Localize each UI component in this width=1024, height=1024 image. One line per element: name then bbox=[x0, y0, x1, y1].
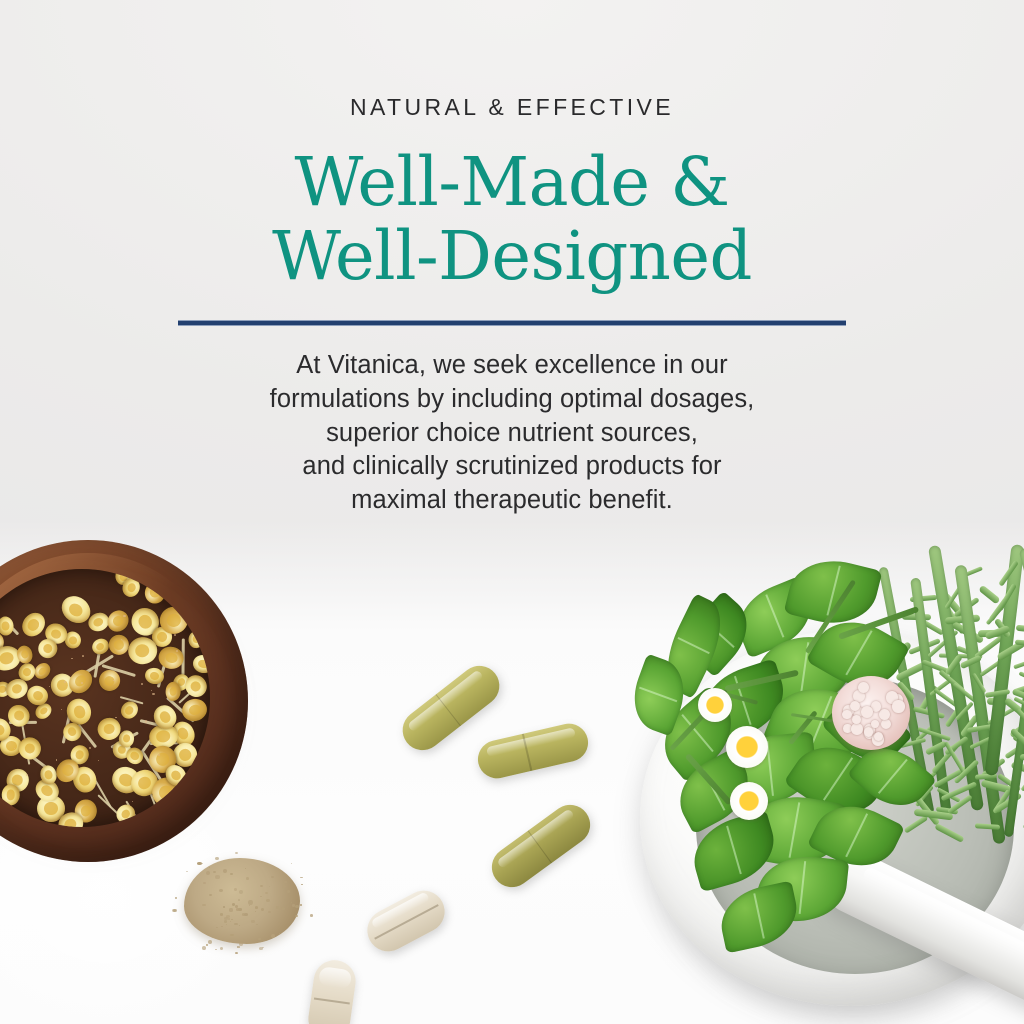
body-line-5: maximal therapeutic benefit. bbox=[182, 484, 842, 518]
page-title: Well-Made & Well-Designed bbox=[0, 145, 1024, 294]
chamomile-flower bbox=[0, 616, 14, 636]
leaf-vein bbox=[726, 826, 741, 874]
powder-grain bbox=[284, 881, 287, 883]
powder-grain bbox=[208, 940, 212, 944]
body-line-2: formulations by including optimal dosage… bbox=[182, 383, 842, 417]
powder-grain bbox=[202, 946, 207, 950]
powder-grain bbox=[271, 876, 273, 878]
bowl-speck bbox=[81, 682, 83, 684]
bowl-speck bbox=[78, 783, 79, 784]
powder-grain bbox=[197, 862, 201, 865]
leaf-vein bbox=[799, 861, 806, 914]
bowl-speck bbox=[61, 709, 62, 710]
bowl-speck bbox=[115, 717, 116, 718]
clover-floret bbox=[892, 700, 904, 712]
mint-leaf bbox=[715, 881, 803, 954]
powder-grain bbox=[229, 908, 233, 911]
powder-grain bbox=[282, 908, 284, 909]
powder-grain bbox=[265, 892, 268, 894]
bowl-speck bbox=[133, 762, 134, 763]
bowl-speck bbox=[98, 760, 99, 761]
powder-grain bbox=[235, 952, 238, 954]
chamomile-flower bbox=[17, 608, 49, 641]
powder-grain bbox=[234, 888, 237, 891]
clover-floret bbox=[852, 715, 861, 724]
rosemary-needle bbox=[1013, 655, 1024, 670]
clover-floret bbox=[881, 719, 891, 729]
bowl-speck bbox=[82, 655, 84, 657]
leaf-vein bbox=[753, 893, 764, 939]
bowl-speck bbox=[141, 683, 143, 685]
powder-grain bbox=[295, 915, 299, 917]
text-block: NATURAL & EFFECTIVE Well-Made & Well-Des… bbox=[0, 96, 1024, 518]
powder-grain bbox=[186, 871, 188, 872]
body-paragraph: At Vitanica, we seek excellence in our f… bbox=[182, 349, 842, 519]
bowl-speck bbox=[132, 801, 133, 802]
powder-mass bbox=[184, 858, 300, 944]
clover-floret bbox=[842, 710, 851, 719]
powder-grain bbox=[175, 897, 178, 899]
powder-grain bbox=[206, 944, 208, 945]
bowl-speck bbox=[174, 634, 176, 636]
headline-line-2: Well-Designed bbox=[0, 219, 1024, 293]
bowl-speck bbox=[173, 814, 174, 815]
bowl-speck bbox=[151, 690, 152, 691]
chamomile-flower bbox=[1, 784, 19, 806]
powder-grain bbox=[220, 947, 223, 950]
leaf-vein bbox=[789, 802, 800, 857]
mortar-and-pestle bbox=[640, 630, 1024, 1024]
powder-grain bbox=[173, 909, 176, 912]
powder-grain bbox=[215, 857, 219, 860]
clover-floret bbox=[871, 720, 879, 728]
chamomile-bowl bbox=[0, 540, 248, 862]
tablet-score-line bbox=[313, 997, 350, 1004]
daisy-flower bbox=[730, 782, 768, 820]
chamomile-flower bbox=[118, 729, 136, 748]
powder-grain bbox=[216, 927, 218, 928]
powder-grain bbox=[231, 919, 232, 920]
bowl-speck bbox=[49, 686, 50, 687]
daisy-flower bbox=[726, 726, 768, 768]
powder-grain bbox=[248, 900, 253, 904]
leaf-vein bbox=[845, 630, 872, 675]
powder-grain bbox=[258, 938, 261, 941]
powder-grain bbox=[239, 947, 240, 948]
chamomile-flower bbox=[15, 733, 45, 763]
powder-grain bbox=[255, 906, 259, 909]
rosemary-needle bbox=[1020, 754, 1024, 760]
herbal-powder-pile bbox=[176, 852, 308, 956]
powder-grain bbox=[300, 877, 302, 879]
clover-floret bbox=[864, 727, 873, 736]
chamomile-flower bbox=[145, 582, 165, 604]
chamomile-flower bbox=[180, 697, 210, 724]
leaf-vein bbox=[823, 757, 853, 800]
powder-grain bbox=[261, 908, 264, 911]
chamomile-flower bbox=[192, 653, 210, 674]
chamomile-flower bbox=[165, 682, 182, 702]
rosemary-needle bbox=[903, 815, 927, 833]
powder-grain bbox=[291, 902, 292, 903]
powder-grain bbox=[282, 882, 284, 884]
powder-grain bbox=[292, 904, 294, 906]
powder-grain bbox=[219, 889, 223, 892]
bowl-speck bbox=[152, 693, 154, 695]
headline-line-1: Well-Made & bbox=[0, 145, 1024, 219]
body-line-4: and clinically scrutinized products for bbox=[182, 450, 842, 484]
powder-grain bbox=[291, 863, 292, 864]
powder-grain bbox=[223, 906, 226, 908]
clover-floret bbox=[850, 701, 860, 711]
bowl-speck bbox=[202, 585, 203, 586]
powder-grain bbox=[276, 906, 279, 908]
leaf-vein bbox=[845, 813, 867, 857]
powder-grain bbox=[235, 852, 238, 854]
powder-grain bbox=[238, 908, 242, 910]
powder-grain bbox=[310, 914, 313, 917]
powder-grain bbox=[202, 863, 203, 864]
bowl-speck bbox=[64, 681, 66, 683]
promo-banner: NATURAL & EFFECTIVE Well-Made & Well-Des… bbox=[0, 0, 1024, 1024]
daisy-flower bbox=[698, 688, 732, 722]
body-line-3: superior choice nutrient sources, bbox=[182, 417, 842, 451]
bowl-interior bbox=[0, 569, 210, 827]
powder-grain bbox=[230, 934, 233, 937]
bowl-speck bbox=[123, 615, 126, 618]
bowl-speck bbox=[14, 748, 15, 749]
powder-grain bbox=[215, 875, 220, 878]
eyebrow-text: NATURAL & EFFECTIVE bbox=[0, 96, 1024, 119]
powder-grain bbox=[301, 884, 303, 885]
navy-divider-rule bbox=[178, 320, 846, 326]
herb-cluster bbox=[640, 630, 1024, 1024]
rosemary-needle bbox=[975, 823, 1000, 829]
bowl-speck bbox=[113, 680, 115, 682]
rosemary-needle bbox=[934, 823, 964, 842]
leaf-vein bbox=[765, 594, 784, 638]
powder-grain bbox=[202, 904, 206, 907]
bowl-speck bbox=[26, 774, 28, 776]
powder-grain bbox=[255, 911, 256, 912]
powder-grain bbox=[260, 896, 261, 897]
bowl-speck bbox=[153, 811, 154, 812]
chamomile-flower bbox=[103, 606, 133, 636]
powder-grain bbox=[246, 877, 249, 880]
leaf-vein bbox=[677, 637, 709, 654]
tablet-highlight bbox=[318, 966, 352, 989]
bowl-speck bbox=[89, 747, 91, 749]
leaf-vein bbox=[878, 759, 907, 793]
rosemary-needle bbox=[1016, 625, 1024, 634]
clover-floret bbox=[851, 723, 863, 735]
bowl-speck bbox=[71, 658, 72, 659]
powder-grain bbox=[287, 890, 289, 892]
leaf-vein bbox=[639, 687, 677, 702]
divider-wrap bbox=[178, 320, 846, 327]
powder-grain bbox=[251, 920, 254, 922]
body-line-1: At Vitanica, we seek excellence in our bbox=[182, 349, 842, 383]
powder-grain bbox=[224, 920, 228, 923]
powder-grain bbox=[215, 949, 216, 950]
bowl-speck bbox=[56, 759, 57, 760]
powder-grain bbox=[271, 934, 275, 938]
powder-grain bbox=[220, 913, 224, 915]
powder-grain bbox=[300, 904, 302, 906]
